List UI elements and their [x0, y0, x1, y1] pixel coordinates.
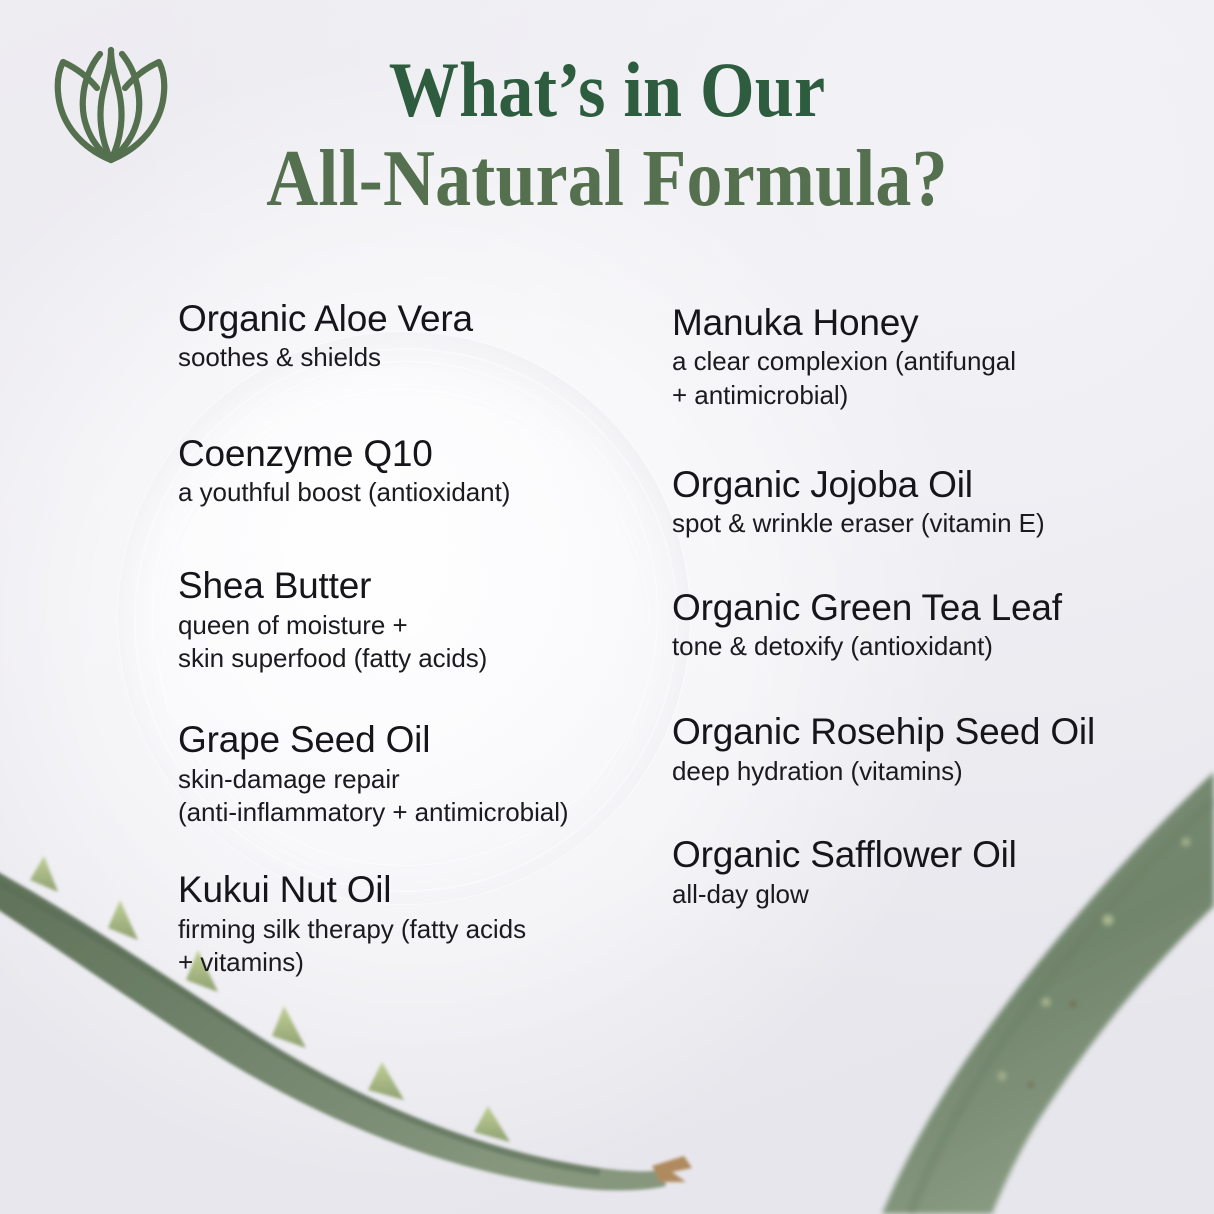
ingredient-description: a youthful boost (antioxidant) [178, 476, 648, 509]
ingredient-name: Organic Aloe Vera [178, 298, 648, 339]
title-line-2: All-Natural Formula? [61, 140, 1154, 218]
ingredient-description: a clear complexion (antifungal+ antimicr… [672, 345, 1172, 412]
ingredient-item: Organic Green Tea Leaftone & detoxify (a… [672, 587, 1172, 664]
ingredient-name: Coenzyme Q10 [178, 433, 648, 474]
ingredient-description: skin-damage repair(anti-inflammatory + a… [178, 763, 648, 830]
ingredient-column-right: Manuka Honeya clear complexion (antifung… [672, 302, 1172, 911]
page-title: What’s in Our All-Natural Formula? [0, 52, 1214, 219]
title-line-1: What’s in Our [61, 52, 1154, 128]
ingredient-description: all-day glow [672, 878, 1172, 911]
ingredient-item: Organic Jojoba Oilspot & wrinkle eraser … [672, 464, 1172, 541]
ingredient-item: Organic Safflower Oilall-day glow [672, 834, 1172, 911]
ingredient-name: Grape Seed Oil [178, 719, 648, 760]
ingredient-description: firming silk therapy (fatty acids+ vitam… [178, 913, 648, 980]
ingredient-columns: Organic Aloe Verasoothes & shieldsCoenzy… [0, 298, 1214, 1038]
ingredient-description: soothes & shields [178, 341, 648, 374]
ingredient-item: Kukui Nut Oilfirming silk therapy (fatty… [178, 869, 648, 979]
ingredient-poster: What’s in Our All-Natural Formula? Organ… [0, 0, 1214, 1214]
ingredient-item: Manuka Honeya clear complexion (antifung… [672, 302, 1172, 412]
ingredient-description: queen of moisture +skin superfood (fatty… [178, 609, 648, 676]
ingredient-name: Manuka Honey [672, 302, 1172, 343]
ingredient-item: Coenzyme Q10a youthful boost (antioxidan… [178, 433, 648, 510]
ingredient-description: spot & wrinkle eraser (vitamin E) [672, 507, 1172, 540]
ingredient-name: Organic Safflower Oil [672, 834, 1172, 875]
ingredient-name: Organic Jojoba Oil [672, 464, 1172, 505]
ingredient-name: Shea Butter [178, 565, 648, 606]
ingredient-item: Shea Butterqueen of moisture +skin super… [178, 565, 648, 675]
ingredient-name: Organic Green Tea Leaf [672, 587, 1172, 628]
ingredient-name: Kukui Nut Oil [178, 869, 648, 910]
ingredient-description: deep hydration (vitamins) [672, 755, 1172, 788]
ingredient-name: Organic Rosehip Seed Oil [672, 711, 1172, 752]
ingredient-item: Organic Rosehip Seed Oildeep hydration (… [672, 711, 1172, 788]
leaf-tip-brown [652, 1156, 692, 1182]
ingredient-item: Grape Seed Oilskin-damage repair(anti-in… [178, 719, 648, 829]
ingredient-item: Organic Aloe Verasoothes & shields [178, 298, 648, 375]
ingredient-description: tone & detoxify (antioxidant) [672, 630, 1172, 663]
ingredient-column-left: Organic Aloe Verasoothes & shieldsCoenzy… [178, 298, 648, 979]
